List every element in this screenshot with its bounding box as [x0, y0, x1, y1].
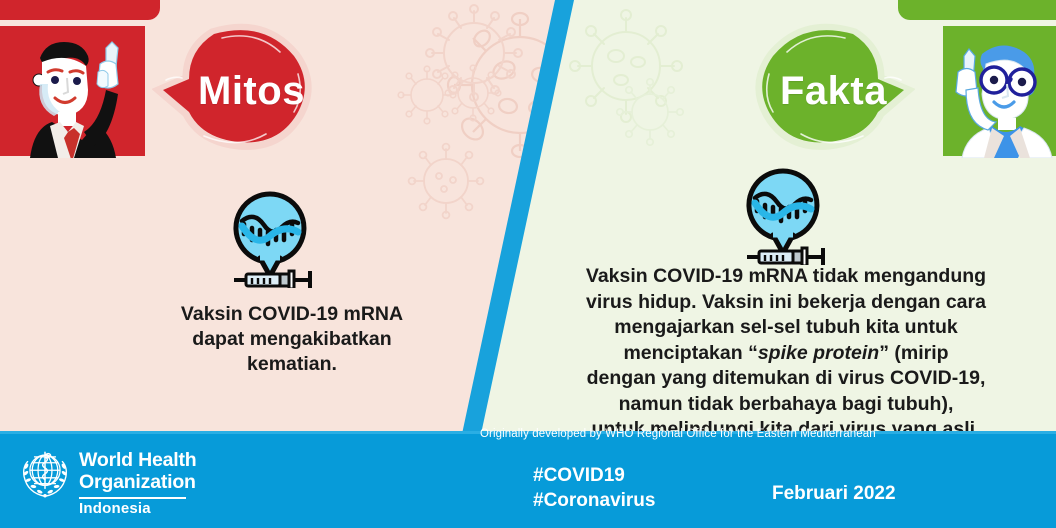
- who-emblem: [16, 443, 74, 501]
- who-name-underline: [79, 497, 186, 499]
- doctor-pointing-up-illustration: [928, 28, 1056, 158]
- myth-badge-label: Mitos: [198, 69, 305, 113]
- fact-line-4-post: ” (mirip: [879, 342, 948, 364]
- virus-outline-green-small-icon: [610, 72, 690, 152]
- hashtag-covid19: #COVID19: [533, 463, 655, 488]
- fact-top-bar: [898, 0, 1056, 20]
- credit-line: Originally developed by WHO Regional Off…: [480, 428, 876, 440]
- myth-line-2: dapat mengakibatkan: [122, 327, 462, 352]
- myth-line-3: kematian.: [122, 352, 462, 377]
- mrna-vaccine-icon-myth: [222, 188, 318, 288]
- who-name-line-1: World Health: [79, 449, 197, 471]
- myth-top-bar: [0, 0, 160, 20]
- publication-date: Februari 2022: [772, 483, 896, 505]
- virus-outline-small-icon: [401, 136, 491, 226]
- fact-badge-label: Fakta: [780, 69, 887, 113]
- fact-line-1: Vaksin COVID-19 mRNA tidak mengandung: [556, 264, 1016, 290]
- myth-statement: Vaksin COVID-19 mRNA dapat mengakibatkan…: [122, 302, 462, 377]
- man-pointing-up-illustration: [22, 28, 154, 158]
- fact-line-3: mengajarkan sel-sel tubuh kita untuk: [556, 315, 1016, 341]
- mrna-vaccine-icon-fact: [735, 165, 831, 265]
- myth-line-1: Vaksin COVID-19 mRNA: [122, 302, 462, 327]
- who-name-line-2: Organization: [79, 471, 197, 493]
- myth-speech-balloon: Mitos: [152, 18, 317, 158]
- fact-speech-balloon: Fakta: [750, 18, 915, 158]
- who-country-label: Indonesia: [79, 500, 151, 517]
- fact-line-4: menciptakan “spike protein” (mirip: [556, 341, 1016, 367]
- fact-statement: Vaksin COVID-19 mRNA tidak mengandung vi…: [556, 264, 1016, 443]
- fact-line-2: virus hidup. Vaksin ini bekerja dengan c…: [556, 290, 1016, 316]
- fact-line-4-pre: menciptakan “: [623, 342, 757, 364]
- who-organization-name: World Health Organization: [79, 449, 197, 493]
- fact-line-5: dengan yang ditemukan di virus COVID-19,: [556, 366, 1016, 392]
- infographic-canvas: Mitos Vaksin COVID-19 mRNA dapat mengaki…: [0, 0, 1056, 528]
- hashtag-coronavirus: #Coronavirus: [533, 488, 655, 513]
- fact-spike-protein-emphasis: spike protein: [758, 342, 879, 364]
- fact-line-6: namun tidak berbahaya bagi tubuh),: [556, 392, 1016, 418]
- virus-outline-tiny-2-icon: [438, 58, 508, 128]
- hashtag-group: #COVID19 #Coronavirus: [533, 463, 655, 513]
